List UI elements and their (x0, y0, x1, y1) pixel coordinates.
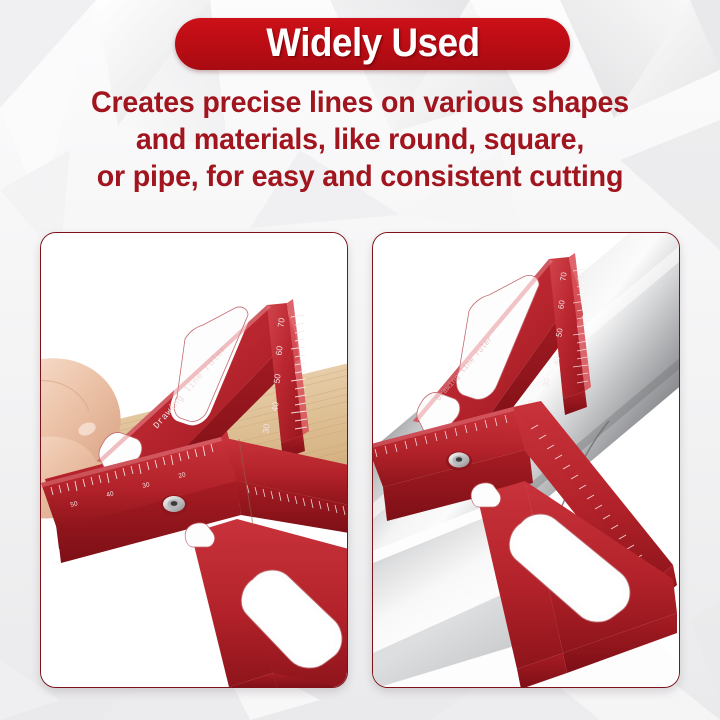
title-badge: Widely Used (175, 18, 570, 70)
subtitle-line-2: and materials, like round, square, (11, 121, 709, 158)
subtitle-line-1: Creates precise lines on various shapes (11, 84, 709, 121)
svg-text:60: 60 (273, 345, 284, 356)
photo-panel-pipe[interactable]: 70 60 50 40 30 20 10 (372, 232, 680, 688)
svg-text:60: 60 (556, 299, 566, 310)
svg-text:30: 30 (541, 377, 551, 388)
pivot-screw (161, 495, 188, 515)
svg-text:50: 50 (271, 373, 282, 384)
subtitle: Creates precise lines on various shapes … (0, 84, 720, 195)
page-title: Widely Used (266, 23, 479, 65)
svg-text:70: 70 (275, 317, 286, 328)
pivot-screw (446, 452, 472, 471)
photo-wood-scene: 70 60 50 40 30 20 10 (41, 233, 347, 687)
svg-text:30: 30 (260, 423, 271, 434)
svg-text:70: 70 (558, 271, 568, 282)
photo-pipe-scene: 70 60 50 40 30 20 10 (373, 233, 679, 687)
header: Widely Used Creates precise lines on var… (0, 0, 720, 225)
photo-panel-wood[interactable]: 70 60 50 40 30 20 10 (40, 232, 348, 688)
svg-text:50: 50 (554, 327, 564, 338)
svg-text:40: 40 (551, 355, 561, 366)
svg-text:40: 40 (269, 401, 280, 412)
subtitle-line-3: or pipe, for easy and consistent cutting (11, 158, 709, 195)
product-feature-page: Widely Used Creates precise lines on var… (0, 0, 720, 720)
